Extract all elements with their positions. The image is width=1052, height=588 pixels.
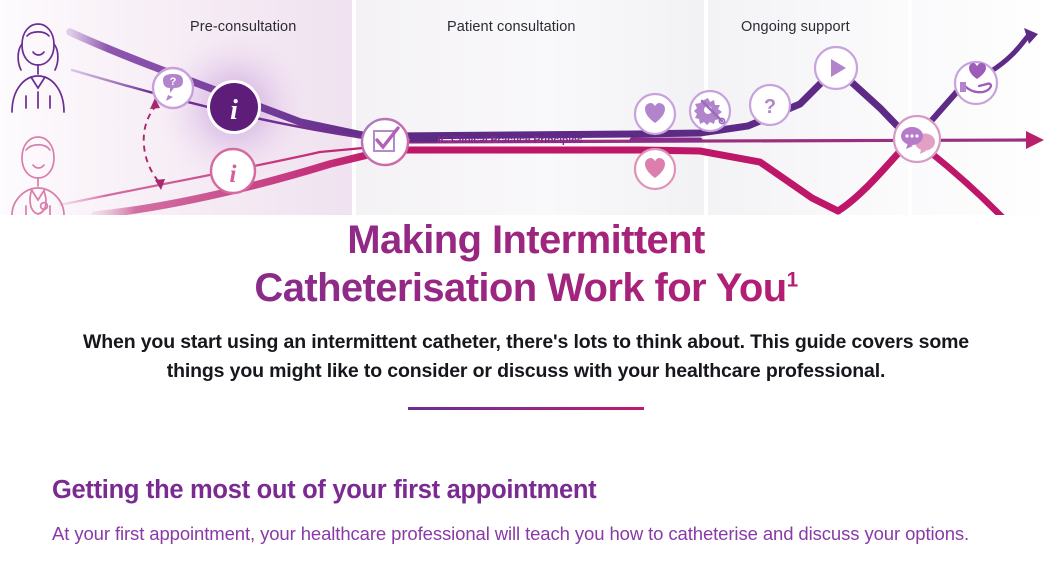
svg-text:i: i [230,161,237,188]
reference-marker: 1 [787,269,798,292]
svg-text:i: i [230,95,238,126]
page-title-line-2: Catheterisation Work for You [254,266,786,310]
node-checkbox-checked-icon [362,119,408,165]
svg-text:?: ? [170,76,177,88]
node-question-mark-icon: ? [750,85,790,125]
stage-label-pre-consultation: Pre-consultation [190,19,296,35]
patient-journey-hero-graphic: ? i i [0,0,1052,215]
node-play-button-icon [815,47,857,89]
stage-label-ongoing-support: Ongoing support [741,19,850,35]
section-paragraph: At your first appointment, your healthca… [52,520,997,547]
first-appointment-section: Getting the most out of your first appoi… [52,474,1012,547]
stage-label-patient-consultation: Patient consultation [447,19,576,35]
intro-paragraph: When you start using an intermittent cat… [53,328,999,385]
section-divider [408,407,644,410]
node-information-outline-icon: i [211,149,255,193]
node-heart-icon-upper [635,94,675,134]
node-hand-heart-icon [955,62,997,104]
title-block: Making IntermittentCatheterisation Work … [0,216,1052,410]
node-gear-wrench-icon [690,91,730,131]
band-label-ic-clinical-practice-principles: IC Clinical Practice Principles [438,134,583,146]
node-heart-icon-lower [635,149,675,189]
page-title-line-1: Making Intermittent [347,218,705,262]
node-information-filled-icon: i [207,80,261,134]
section-heading: Getting the most out of your first appoi… [52,474,1012,506]
node-chat-bubbles-icon [894,116,940,162]
node-question-speech-bubble-icon: ? [153,68,193,108]
svg-text:?: ? [764,96,776,118]
page-title: Making IntermittentCatheterisation Work … [0,216,1052,312]
